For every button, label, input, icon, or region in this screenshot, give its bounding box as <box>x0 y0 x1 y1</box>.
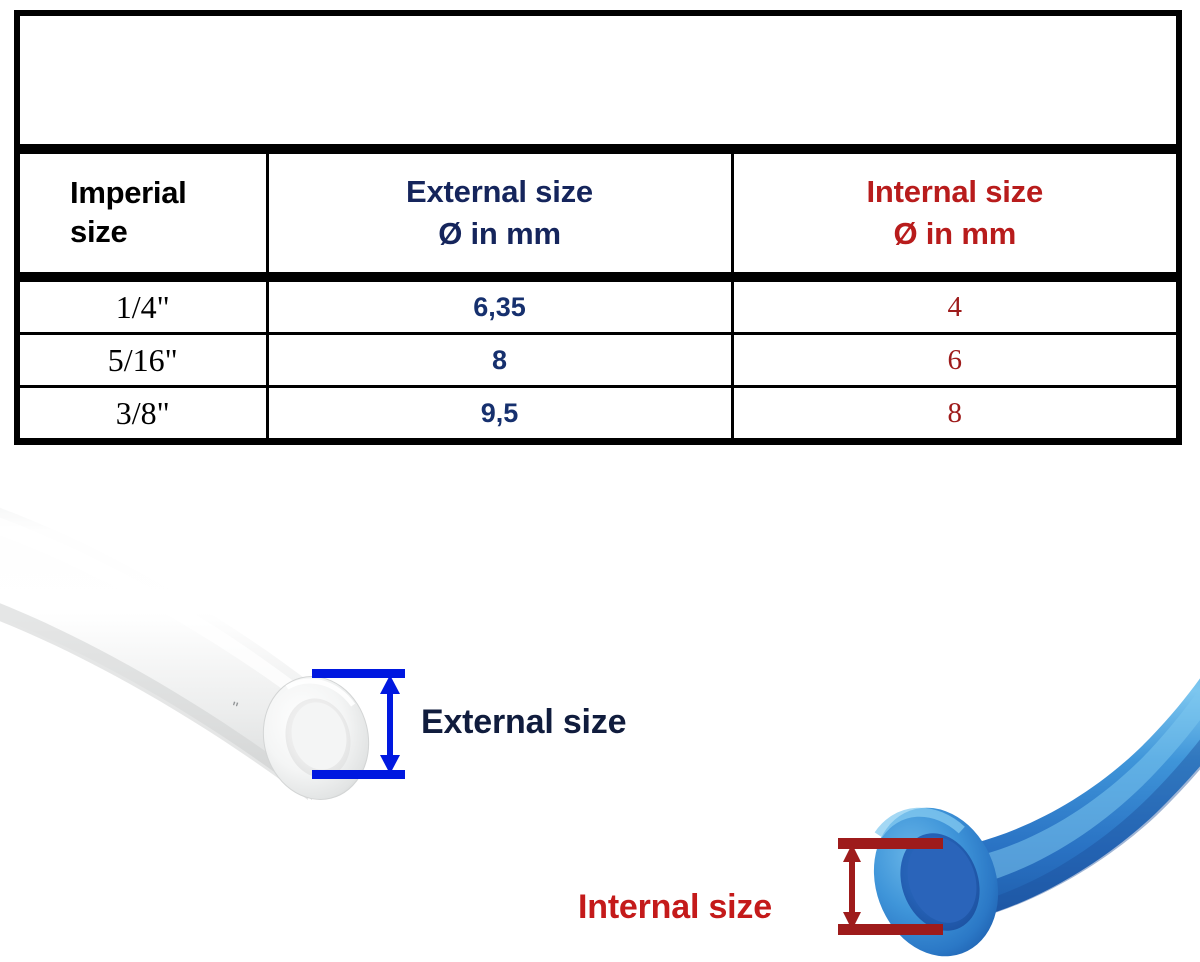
white-tube-graphic <box>0 488 381 811</box>
cell-imperial-size: 5/16" <box>17 334 267 387</box>
blue-tube-graphic <box>854 640 1200 962</box>
external-dim-top-tick <box>312 669 405 678</box>
cell-external-size: 6,35 <box>267 277 732 334</box>
header-internal-size: Internal size Ø in mm <box>732 149 1179 277</box>
cell-external-size: 8 <box>267 334 732 387</box>
cell-imperial-size: 3/8" <box>17 387 267 442</box>
tube-size-table: Imperial size External size Ø in mm Inte… <box>14 10 1182 445</box>
cell-internal-size: 8 <box>732 387 1179 442</box>
cell-internal-size: 4 <box>732 277 1179 334</box>
header-external-line1: External size <box>269 171 731 213</box>
cell-external-size: 9,5 <box>267 387 732 442</box>
table-row: 1/4" 6,35 4 <box>17 277 1179 334</box>
header-imperial-line2: size <box>70 214 127 249</box>
header-external-size: External size Ø in mm <box>267 149 732 277</box>
internal-dim-top-tick <box>838 838 943 849</box>
table-banner-row <box>17 13 1179 149</box>
header-internal-line1: Internal size <box>734 171 1177 213</box>
header-internal-line2: Ø in mm <box>734 213 1177 255</box>
table-header-row: Imperial size External size Ø in mm Inte… <box>17 149 1179 277</box>
cell-internal-size: 6 <box>732 334 1179 387</box>
table-row: 5/16" 8 6 <box>17 334 1179 387</box>
internal-size-label: Internal size <box>578 888 772 927</box>
cell-imperial-size: 1/4" <box>17 277 267 334</box>
banner-cell <box>17 13 1179 149</box>
table-row: 3/8" 9,5 8 <box>17 387 1179 442</box>
header-external-line2: Ø in mm <box>269 213 731 255</box>
header-imperial-size: Imperial size <box>17 149 267 277</box>
external-size-label: External size <box>421 703 626 742</box>
header-imperial-line1: Imperial <box>70 175 186 210</box>
